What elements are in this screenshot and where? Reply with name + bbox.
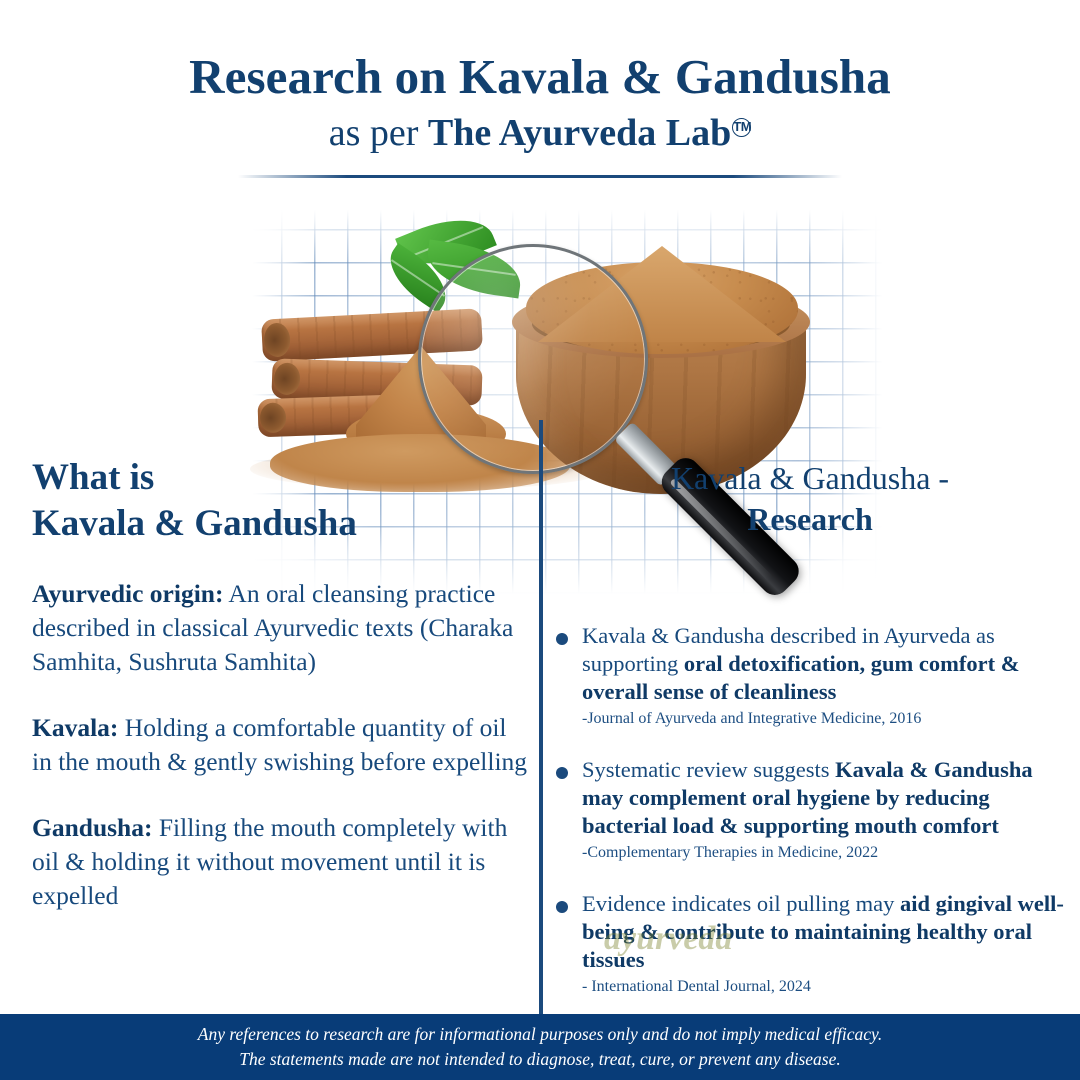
disclaimer-line2: The statements made are not intended to … <box>239 1047 841 1072</box>
magnifier-lens <box>418 244 648 474</box>
right-heading: Kavala & Gandusha - Research <box>556 458 1064 540</box>
bullet-text: Systematic review suggests Kavala & Gand… <box>582 756 1064 864</box>
right-heading-line2: Research <box>556 499 1064 540</box>
bullet-citation: -Complementary Therapies in Medicine, 20… <box>582 842 1064 864</box>
page-title-line2: as per The Ayurveda LabTM <box>0 108 1080 158</box>
bullet-text: Kavala & Gandusha described in Ayurveda … <box>582 622 1064 730</box>
brand-name: The Ayurveda Lab <box>428 112 731 154</box>
definition-item: Gandusha: Filling the mouth completely w… <box>32 811 530 913</box>
bullet-dot-icon <box>556 633 568 645</box>
research-bullet-list: Kavala & Gandusha described in Ayurveda … <box>556 622 1064 998</box>
disclaimer-line1: Any references to research are for infor… <box>198 1022 882 1047</box>
definition-term: Kavala: <box>32 713 118 742</box>
definition-term: Ayurvedic origin: <box>32 579 223 608</box>
bullet-dot-icon <box>556 901 568 913</box>
bullet-dot-icon <box>556 767 568 779</box>
left-heading-line1: What is <box>32 455 530 501</box>
bullet-lead: Evidence indicates oil pulling may <box>582 891 900 916</box>
bullet-text: Evidence indicates oil pulling may aid g… <box>582 890 1064 998</box>
definition-term: Gandusha: <box>32 813 152 842</box>
disclaimer-footer: Any references to research are for infor… <box>0 1014 1080 1080</box>
trademark-icon: TM <box>732 118 751 137</box>
column-divider <box>539 420 543 1014</box>
infographic-canvas: Research on Kavala & Gandusha as per The… <box>0 0 1080 1080</box>
bullet-citation: - International Dental Journal, 2024 <box>582 976 1064 998</box>
header-divider-rule <box>238 175 842 178</box>
left-heading-line2: Kavala & Gandusha <box>32 501 530 547</box>
title-prefix: as per <box>329 112 428 154</box>
definition-paragraph: Gandusha: Filling the mouth completely w… <box>32 811 530 913</box>
definition-item: Ayurvedic origin: An oral cleansing prac… <box>32 577 530 679</box>
page-header: Research on Kavala & Gandusha as per The… <box>0 48 1080 158</box>
definition-paragraph: Kavala: Holding a comfortable quantity o… <box>32 711 530 779</box>
bullet-lead: Systematic review suggests <box>582 757 835 782</box>
right-heading-line1: Kavala & Gandusha - <box>671 460 949 496</box>
page-title-line1: Research on Kavala & Gandusha <box>0 48 1080 106</box>
right-column: Kavala & Gandusha - Research Kavala & Ga… <box>556 458 1064 1024</box>
left-column: What is Kavala & Gandusha Ayurvedic orig… <box>32 455 530 913</box>
list-item: Systematic review suggests Kavala & Gand… <box>556 756 1064 864</box>
list-item: Evidence indicates oil pulling may aid g… <box>556 890 1064 998</box>
list-item: Kavala & Gandusha described in Ayurveda … <box>556 622 1064 730</box>
definition-item: Kavala: Holding a comfortable quantity o… <box>32 711 530 779</box>
bullet-citation: -Journal of Ayurveda and Integrative Med… <box>582 708 1064 730</box>
definition-paragraph: Ayurvedic origin: An oral cleansing prac… <box>32 577 530 679</box>
